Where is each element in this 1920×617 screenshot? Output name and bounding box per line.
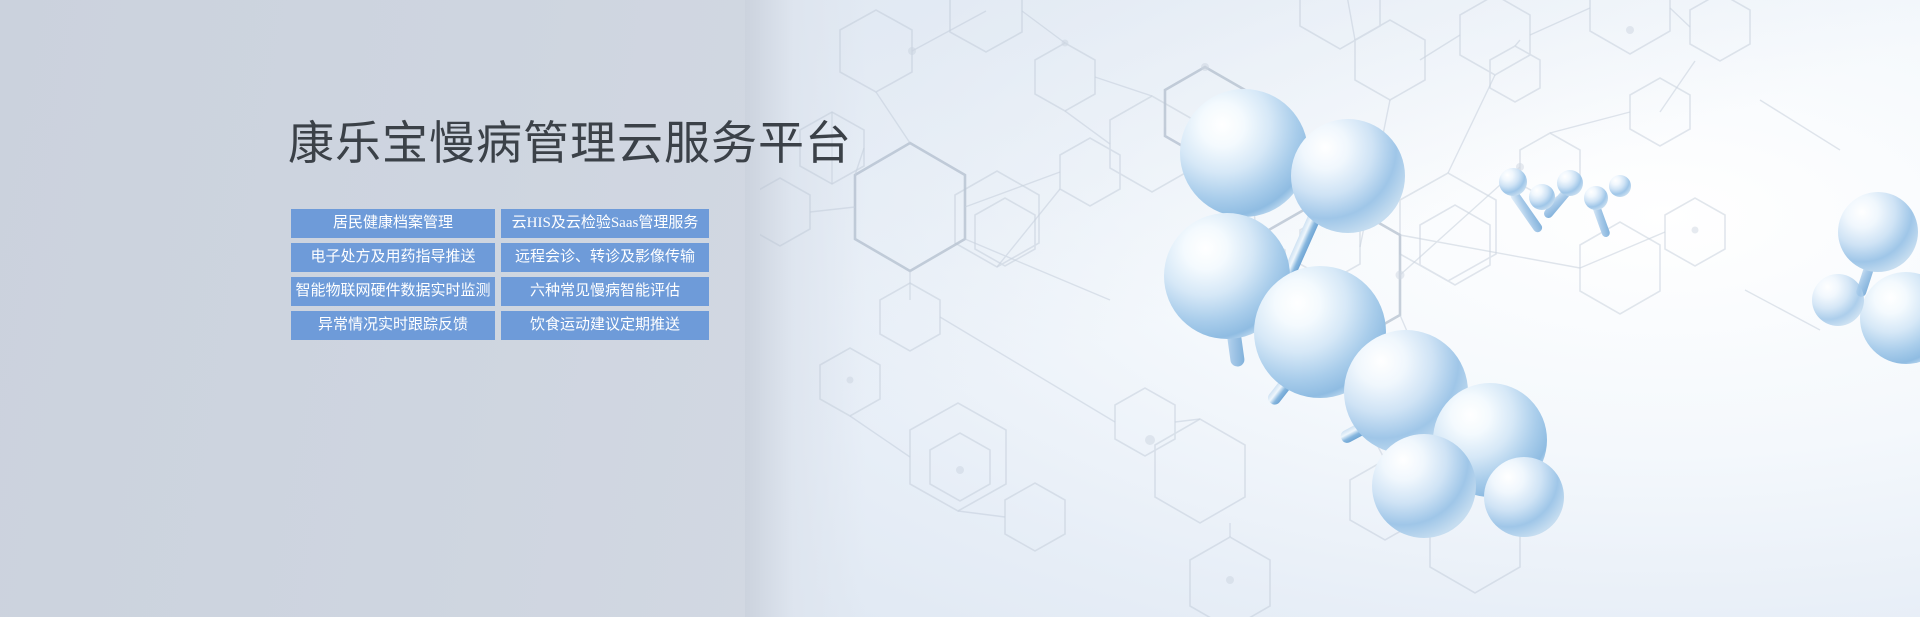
feature-cell-iot-monitoring[interactable]: 智能物联网硬件数据实时监测 xyxy=(291,277,495,306)
page-title: 康乐宝慢病管理云服务平台 xyxy=(288,118,852,169)
feature-cell-cloud-his-saas[interactable]: 云HIS及云检验Saas管理服务 xyxy=(501,209,709,238)
hero-banner: 康乐宝慢病管理云服务平台 居民健康档案管理 云HIS及云检验Saas管理服务 电… xyxy=(0,0,1920,617)
feature-cell-anomaly-tracking[interactable]: 异常情况实时跟踪反馈 xyxy=(291,311,495,340)
feature-cell-e-prescription[interactable]: 电子处方及用药指导推送 xyxy=(291,243,495,272)
feature-cell-diet-exercise-advice[interactable]: 饮食运动建议定期推送 xyxy=(501,311,709,340)
feature-grid: 居民健康档案管理 云HIS及云检验Saas管理服务 电子处方及用药指导推送 远程… xyxy=(291,209,709,340)
banner-content: 康乐宝慢病管理云服务平台 居民健康档案管理 云HIS及云检验Saas管理服务 电… xyxy=(0,0,790,617)
feature-cell-chronic-disease-assessment[interactable]: 六种常见慢病智能评估 xyxy=(501,277,709,306)
feature-cell-resident-health-records[interactable]: 居民健康档案管理 xyxy=(291,209,495,238)
feature-cell-remote-consultation[interactable]: 远程会诊、转诊及影像传输 xyxy=(501,243,709,272)
